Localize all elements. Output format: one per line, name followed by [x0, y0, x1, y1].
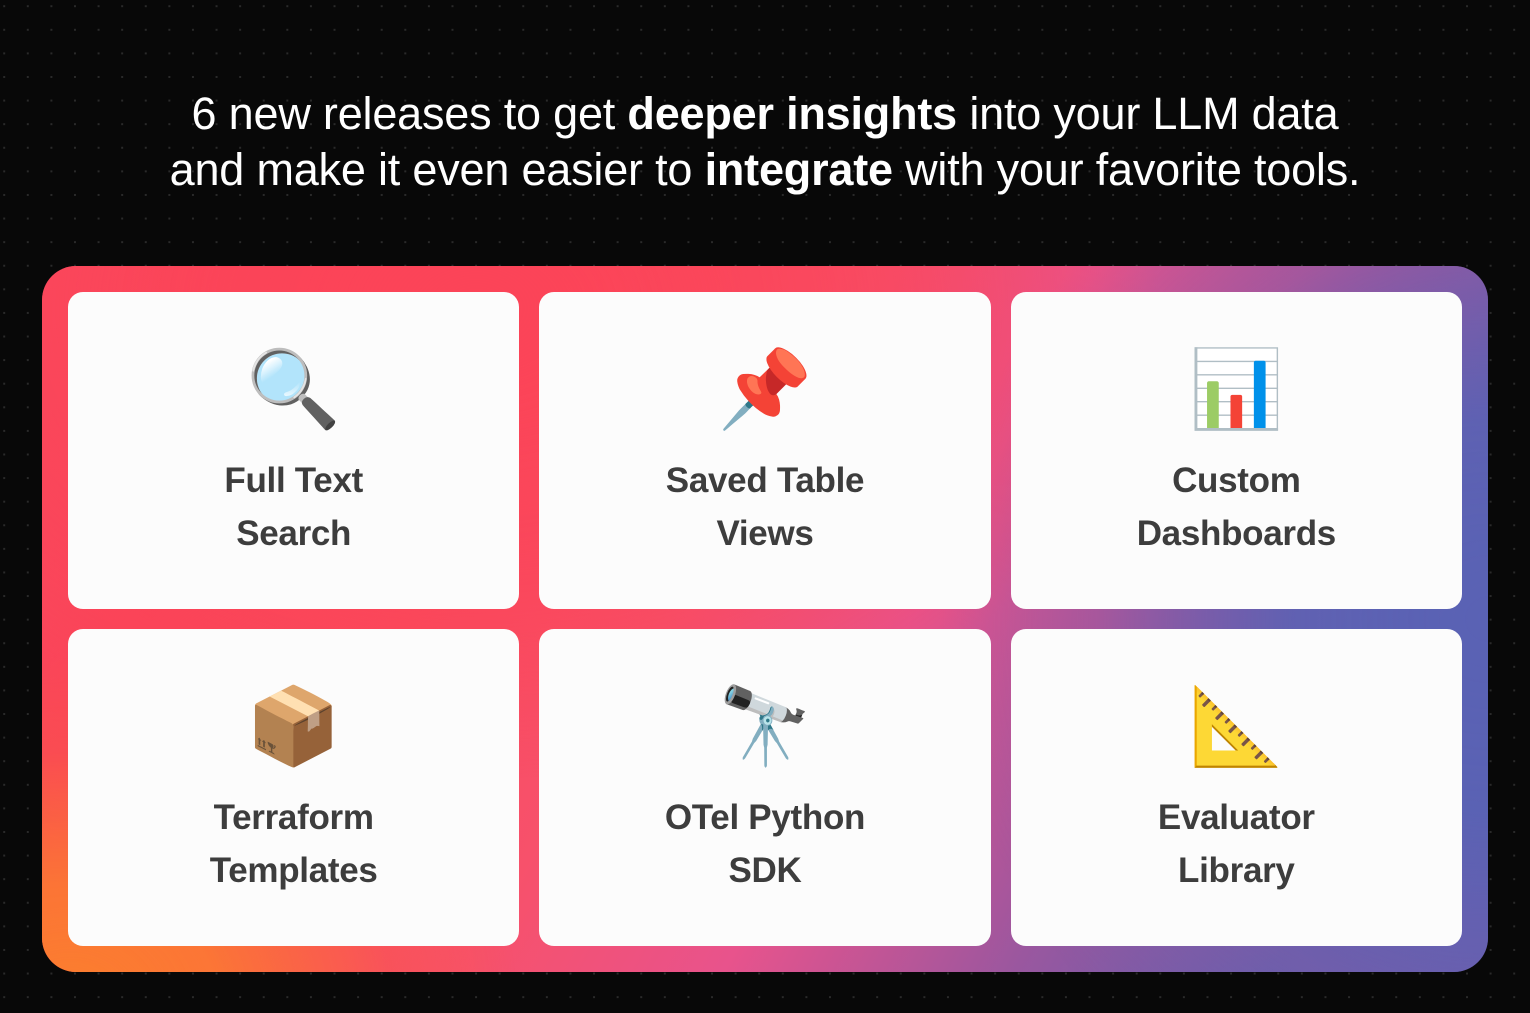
- feature-card-saved-table-views[interactable]: 📌 Saved Table Views: [539, 292, 990, 609]
- headline-line2-suffix: with your favorite tools.: [893, 144, 1361, 195]
- feature-card-label: Custom Dashboards: [1137, 454, 1336, 560]
- pushpin-icon: 📌: [718, 338, 813, 442]
- bar-chart-icon: 📊: [1189, 338, 1284, 442]
- feature-card-terraform-templates[interactable]: 📦 Terraform Templates: [68, 629, 519, 946]
- triangular-ruler-icon: 📐: [1189, 675, 1284, 779]
- feature-card-label: Full Text Search: [224, 454, 363, 560]
- feature-card-label: Terraform Templates: [210, 791, 378, 897]
- package-box-icon: 📦: [246, 675, 341, 779]
- feature-grid: 🔍 Full Text Search 📌 Saved Table Views 📊…: [68, 292, 1462, 946]
- feature-card-label: Evaluator Library: [1158, 791, 1315, 897]
- magnifying-glass-icon: 🔍: [246, 338, 341, 442]
- feature-card-label: Saved Table Views: [666, 454, 864, 560]
- feature-card-otel-python-sdk[interactable]: 🔭 OTel Python SDK: [539, 629, 990, 946]
- headline-line2-prefix: and make it even easier to: [170, 144, 705, 195]
- page-headline: 6 new releases to get deeper insights in…: [35, 86, 1495, 198]
- feature-card-label: OTel Python SDK: [665, 791, 865, 897]
- telescope-icon: 🔭: [718, 675, 813, 779]
- headline-line1-prefix: 6 new releases to get: [192, 88, 628, 139]
- feature-card-full-text-search[interactable]: 🔍 Full Text Search: [68, 292, 519, 609]
- feature-card-evaluator-library[interactable]: 📐 Evaluator Library: [1011, 629, 1462, 946]
- headline-line1-suffix: into your LLM data: [957, 88, 1338, 139]
- feature-card-custom-dashboards[interactable]: 📊 Custom Dashboards: [1011, 292, 1462, 609]
- feature-grid-gradient-frame: 🔍 Full Text Search 📌 Saved Table Views 📊…: [42, 266, 1488, 972]
- headline-line2-emphasis: integrate: [705, 144, 893, 195]
- headline-line1-emphasis: deeper insights: [627, 88, 957, 139]
